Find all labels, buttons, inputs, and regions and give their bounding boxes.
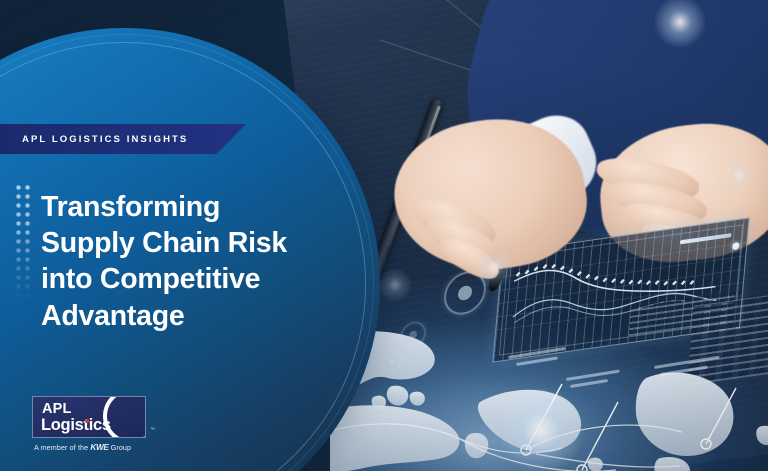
headline-line-4: Advantage [41, 298, 341, 334]
logo-member-line: A member of the KWE Group [34, 443, 131, 452]
eyebrow-banner: APL LOGISTICS INSIGHTS [0, 124, 246, 154]
member-suffix: Group [109, 443, 132, 452]
headline-line-3: into Competitive [41, 261, 341, 297]
eyebrow-label: APL LOGISTICS INSIGHTS [0, 134, 188, 145]
apl-logistics-logo: APL Logistics ™ A member of the KWE Grou… [32, 396, 182, 438]
logo-apl-text: APL [42, 401, 72, 417]
headline-line-1: Transforming [41, 189, 341, 225]
world-map-overlay [330, 330, 768, 471]
dot-grid-decoration [14, 183, 32, 301]
logo-logistics-text: Logistics [41, 416, 111, 435]
page-title: Transforming Supply Chain Risk into Comp… [41, 189, 341, 334]
logo-trademark: ™ [150, 427, 155, 433]
member-prefix: A member of the [34, 443, 90, 452]
headline-line-2: Supply Chain Risk [41, 225, 341, 261]
world-map-svg [330, 330, 768, 471]
logo-red-dot-icon [85, 419, 89, 423]
logo-box: APL Logistics [32, 396, 146, 438]
insight-cover-card: APL LOGISTICS INSIGHTS Transforming Supp… [0, 0, 768, 471]
member-brand: KWE [90, 443, 108, 452]
